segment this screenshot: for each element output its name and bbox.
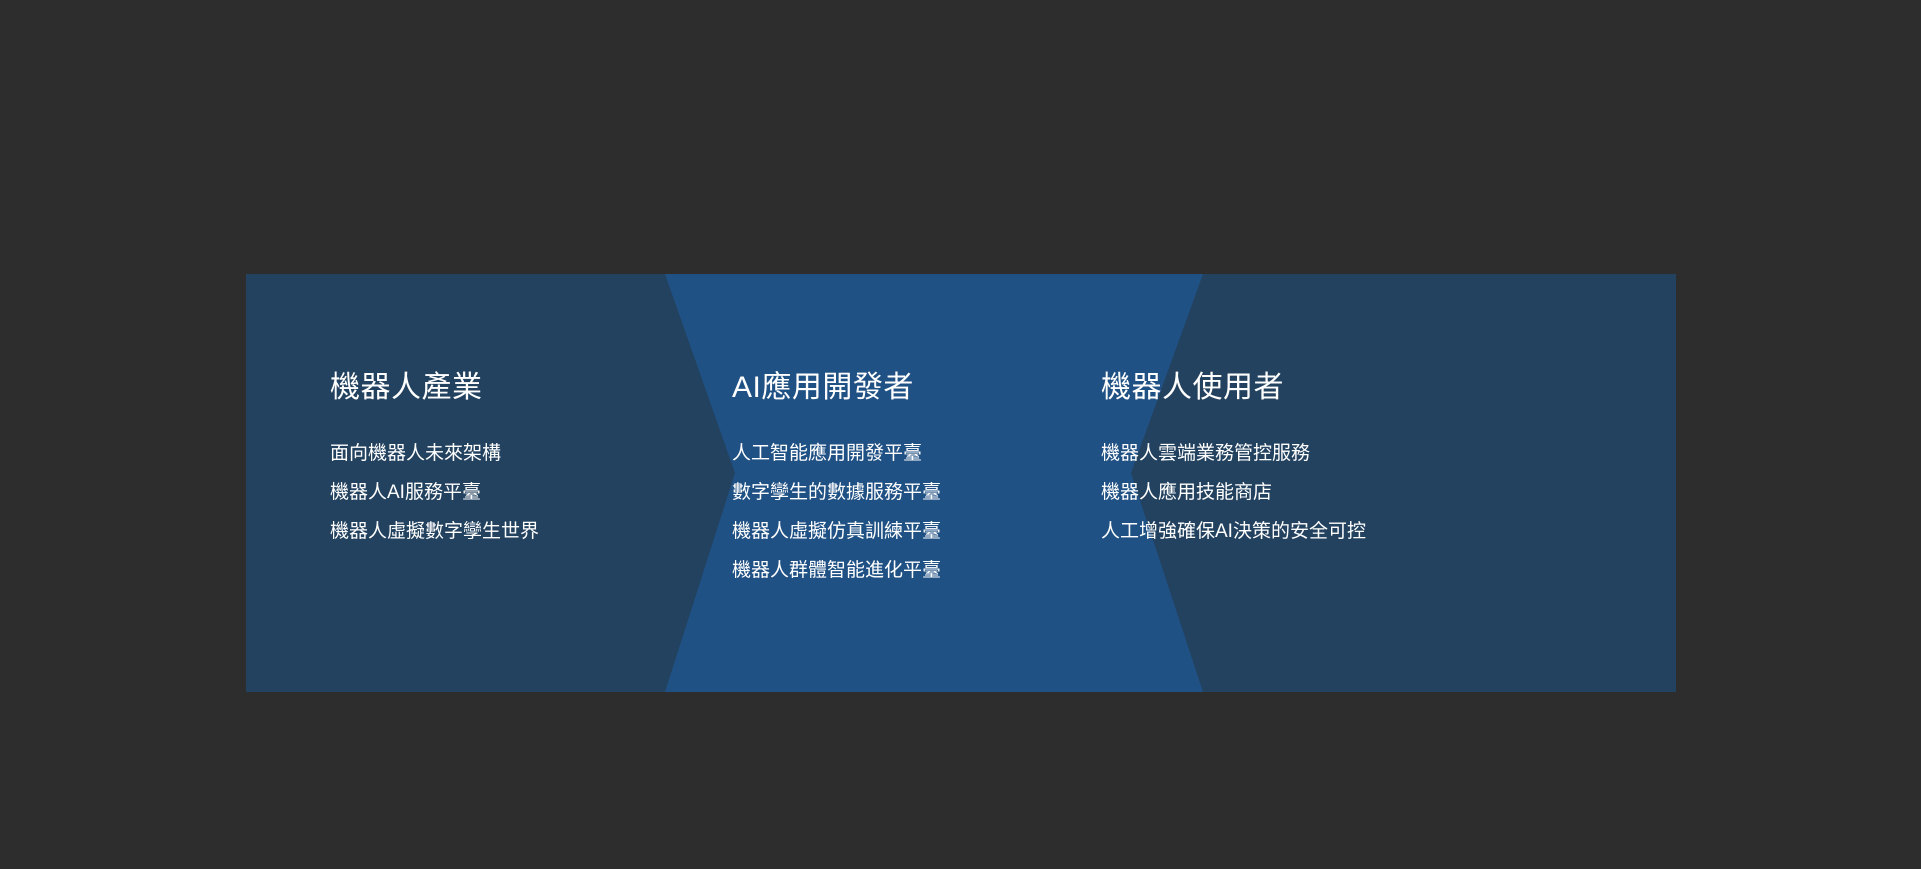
list-item: 機器人虛擬數字孿生世界: [330, 522, 539, 541]
list-item: 數字孿生的數據服務平臺: [732, 483, 941, 502]
list-item: 人工智能應用開發平臺: [732, 444, 941, 463]
list-item: 機器人群體智能進化平臺: [732, 561, 941, 580]
list-item: 機器人AI服務平臺: [330, 483, 539, 502]
column-developer-list: 人工智能應用開發平臺 數字孿生的數據服務平臺 機器人虛擬仿真訓練平臺 機器人群體…: [732, 444, 941, 580]
column-user-title: 機器人使用者: [1101, 370, 1284, 406]
column-industry-title: 機器人產業: [330, 370, 483, 406]
list-item: 面向機器人未來架構: [330, 444, 539, 463]
slide-canvas: 機器人產業 面向機器人未來架構 機器人AI服務平臺 機器人虛擬數字孿生世界 AI…: [0, 0, 1921, 869]
list-item: 機器人雲端業務管控服務: [1101, 444, 1366, 463]
chevron-diagram-panel: 機器人產業 面向機器人未來架構 機器人AI服務平臺 機器人虛擬數字孿生世界 AI…: [246, 274, 1676, 692]
column-user-list: 機器人雲端業務管控服務 機器人應用技能商店 人工增強確保AI決策的安全可控: [1101, 444, 1366, 541]
list-item: 機器人應用技能商店: [1101, 483, 1366, 502]
column-developer-title: AI應用開發者: [732, 370, 914, 406]
list-item: 機器人虛擬仿真訓練平臺: [732, 522, 941, 541]
list-item: 人工增強確保AI決策的安全可控: [1101, 522, 1366, 541]
column-industry-list: 面向機器人未來架構 機器人AI服務平臺 機器人虛擬數字孿生世界: [330, 444, 539, 541]
